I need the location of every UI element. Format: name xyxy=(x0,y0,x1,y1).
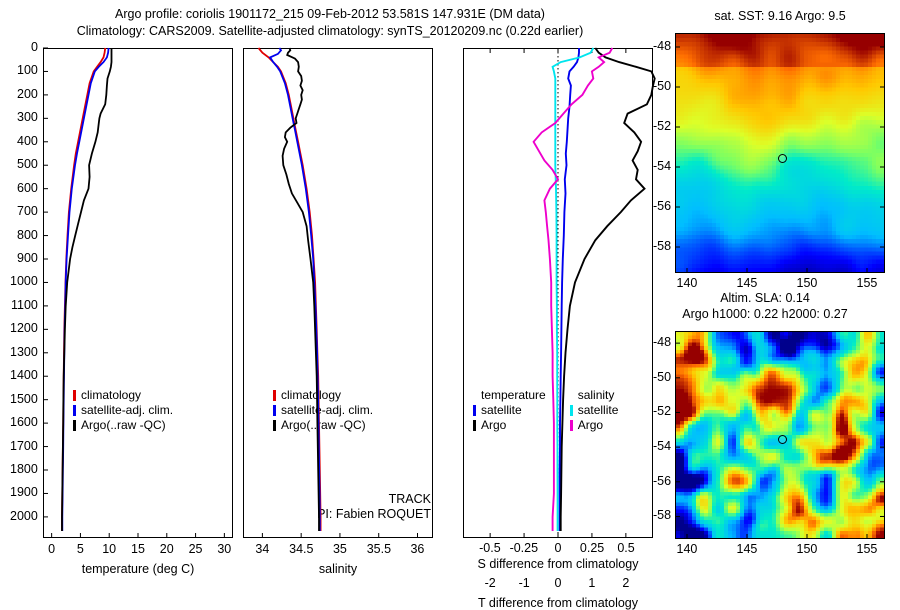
sla-title-line-1: Altim. SLA: 0.14 xyxy=(645,290,885,306)
legend-color-swatch-icon xyxy=(73,420,76,431)
axis-tick-label: 34 xyxy=(255,542,269,556)
legend-label: climatology xyxy=(81,388,141,403)
legend-label: climatology xyxy=(281,388,341,403)
depth-tick-label: 800 xyxy=(17,228,38,242)
map-lat-label: -54 xyxy=(653,439,671,453)
map-lat-label: -48 xyxy=(653,39,671,53)
axis-tick-label: 30 xyxy=(217,542,231,556)
depth-tick-label: 1100 xyxy=(11,298,38,312)
map-lon-label: 150 xyxy=(797,542,818,556)
axis-tick-label: -2 xyxy=(485,576,496,590)
depth-tick-label: 1600 xyxy=(10,415,38,429)
legend-label: Argo xyxy=(578,418,603,433)
depth-tick-label: 0 xyxy=(31,40,38,54)
legend-color-swatch-icon xyxy=(473,420,476,431)
map-lat-label: -50 xyxy=(653,370,671,384)
legend-color-swatch-icon xyxy=(570,420,573,431)
profile-location-marker-icon xyxy=(778,435,787,444)
map-lat-label: -54 xyxy=(653,159,671,173)
legend-label: satellite-adj. clim. xyxy=(281,403,373,418)
legend-color-swatch-icon xyxy=(73,390,76,401)
track-annotation: TRACK PI: Fabien ROQUET xyxy=(273,492,431,522)
legend-entry: Argo xyxy=(570,418,619,433)
depth-tick-label: 1300 xyxy=(10,345,38,359)
axis-tick-label: 0.5 xyxy=(617,541,634,555)
legend-entry: satellite xyxy=(473,403,546,418)
temperature-legend-entry: Argo(..raw -QC) xyxy=(73,418,173,433)
track-label: TRACK xyxy=(273,492,431,507)
legend-color-swatch-icon xyxy=(273,420,276,431)
legend-label: satellite xyxy=(578,403,619,418)
axis-tick-label: 35 xyxy=(333,542,347,556)
map-lon-label: 145 xyxy=(737,542,758,556)
axis-tick-label: 35.5 xyxy=(367,542,391,556)
map-lat-label: -58 xyxy=(653,239,671,253)
depth-tick-label: 1000 xyxy=(10,274,38,288)
axis-tick-label: 20 xyxy=(160,542,174,556)
legend-entry: satellite xyxy=(570,403,619,418)
map-lat-label: -56 xyxy=(653,199,671,213)
axis-tick-label: -0.25 xyxy=(510,541,539,555)
profile-location-marker-icon xyxy=(778,154,787,163)
axis-tick-label: 1 xyxy=(588,576,595,590)
legend-color-swatch-icon xyxy=(73,405,76,416)
legend-label: satellite xyxy=(481,403,522,418)
axis-tick-label: 36 xyxy=(410,542,424,556)
map-lat-label: -58 xyxy=(653,508,671,522)
axis-tick-label: 0 xyxy=(555,576,562,590)
axis-tick-label: 0 xyxy=(48,542,55,556)
difference-legend-group-salinity: salinitysatelliteArgo xyxy=(570,388,619,433)
legend-color-swatch-icon xyxy=(273,405,276,416)
map-lon-label: 140 xyxy=(677,542,698,556)
legend-label: Argo xyxy=(481,418,506,433)
depth-tick-label: 1700 xyxy=(10,439,38,453)
salinity-legend-entry: satellite-adj. clim. xyxy=(273,403,373,418)
depth-tick-label: 1900 xyxy=(10,485,38,499)
map-lon-label: 155 xyxy=(857,276,878,290)
difference-panel-legend: temperaturesatelliteArgosalinitysatellit… xyxy=(473,388,618,433)
depth-tick-label: 1500 xyxy=(10,392,38,406)
depth-tick-label: 100 xyxy=(17,63,38,77)
legend-color-swatch-icon xyxy=(273,390,276,401)
title-line-2: Climatology: CARS2009. Satellite-adjuste… xyxy=(0,23,660,40)
salinity-legend-entry: Argo(..raw -QC) xyxy=(273,418,373,433)
axis-tick-label: 10 xyxy=(102,542,116,556)
axis-tick-label: -1 xyxy=(519,576,530,590)
salinity-difference-axis-label: S difference from climatology xyxy=(463,557,653,571)
legend-color-swatch-icon xyxy=(570,405,573,416)
sla-map[interactable] xyxy=(675,331,885,539)
sst-map-title: sat. SST: 9.16 Argo: 9.5 xyxy=(675,8,885,24)
salinity-panel-legend: climatologysatellite-adj. clim.Argo(..ra… xyxy=(273,388,373,433)
legend-color-swatch-icon xyxy=(473,405,476,416)
salinity-axis-label: salinity xyxy=(243,562,433,576)
legend-label: Argo(..raw -QC) xyxy=(81,418,166,433)
map-lat-label: -50 xyxy=(653,79,671,93)
map-lon-label: 145 xyxy=(737,276,758,290)
axis-tick-label: 34.5 xyxy=(289,542,313,556)
legend-group-header: salinity xyxy=(570,388,619,403)
difference-profile-panel[interactable] xyxy=(463,48,653,538)
depth-tick-label: 700 xyxy=(17,204,38,218)
sla-title-line-2: Argo h1000: 0.22 h2000: 0.27 xyxy=(645,306,885,322)
axis-tick-label: 0.25 xyxy=(580,541,604,555)
depth-tick-label: 300 xyxy=(17,110,38,124)
map-lat-label: -48 xyxy=(653,335,671,349)
map-lat-label: -52 xyxy=(653,119,671,133)
depth-tick-label: 900 xyxy=(17,251,38,265)
depth-tick-label: 1200 xyxy=(10,321,38,335)
legend-label: Argo(..raw -QC) xyxy=(281,418,366,433)
title-line-1: Argo profile: coriolis 1901172_215 09-Fe… xyxy=(0,6,660,23)
map-lon-label: 140 xyxy=(677,276,698,290)
depth-tick-label: 1400 xyxy=(10,368,38,382)
legend-entry: Argo xyxy=(473,418,546,433)
depth-tick-label: 600 xyxy=(17,181,38,195)
temperature-legend-entry: climatology xyxy=(73,388,173,403)
difference-legend-group-temperature: temperaturesatelliteArgo xyxy=(473,388,546,433)
axis-tick-label: 15 xyxy=(131,542,145,556)
sla-map-title: Altim. SLA: 0.14 Argo h1000: 0.22 h2000:… xyxy=(645,290,885,322)
map-lon-label: 150 xyxy=(797,276,818,290)
axis-tick-label: 5 xyxy=(77,542,84,556)
depth-tick-label: 500 xyxy=(17,157,38,171)
axis-tick-label: 25 xyxy=(189,542,203,556)
temperature-difference-axis-label: T difference from climatology xyxy=(463,596,653,610)
figure-title: Argo profile: coriolis 1901172_215 09-Fe… xyxy=(0,6,660,40)
map-lon-label: 155 xyxy=(857,542,878,556)
sst-color-field xyxy=(676,34,884,272)
legend-label: satellite-adj. clim. xyxy=(81,403,173,418)
depth-tick-label: 200 xyxy=(17,87,38,101)
depth-tick-label: 1800 xyxy=(10,462,38,476)
depth-tick-label: 2000 xyxy=(10,509,38,523)
map-lat-label: -52 xyxy=(653,404,671,418)
temperature-profile-panel[interactable] xyxy=(43,48,233,538)
depth-tick-label: 400 xyxy=(17,134,38,148)
legend-group-header: temperature xyxy=(473,388,546,403)
axis-tick-label: -0.5 xyxy=(479,541,501,555)
axis-tick-label: 0 xyxy=(555,541,562,555)
temperature-axis-label: temperature (deg C) xyxy=(43,562,233,576)
salinity-profile-panel[interactable] xyxy=(243,48,433,538)
sst-map[interactable] xyxy=(675,33,885,273)
pi-label: PI: Fabien ROQUET xyxy=(273,507,431,522)
axis-tick-label: 2 xyxy=(622,576,629,590)
salinity-legend-entry: climatology xyxy=(273,388,373,403)
map-lat-label: -56 xyxy=(653,474,671,488)
temperature-panel-legend: climatologysatellite-adj. clim.Argo(..ra… xyxy=(73,388,173,433)
temperature-legend-entry: satellite-adj. clim. xyxy=(73,403,173,418)
